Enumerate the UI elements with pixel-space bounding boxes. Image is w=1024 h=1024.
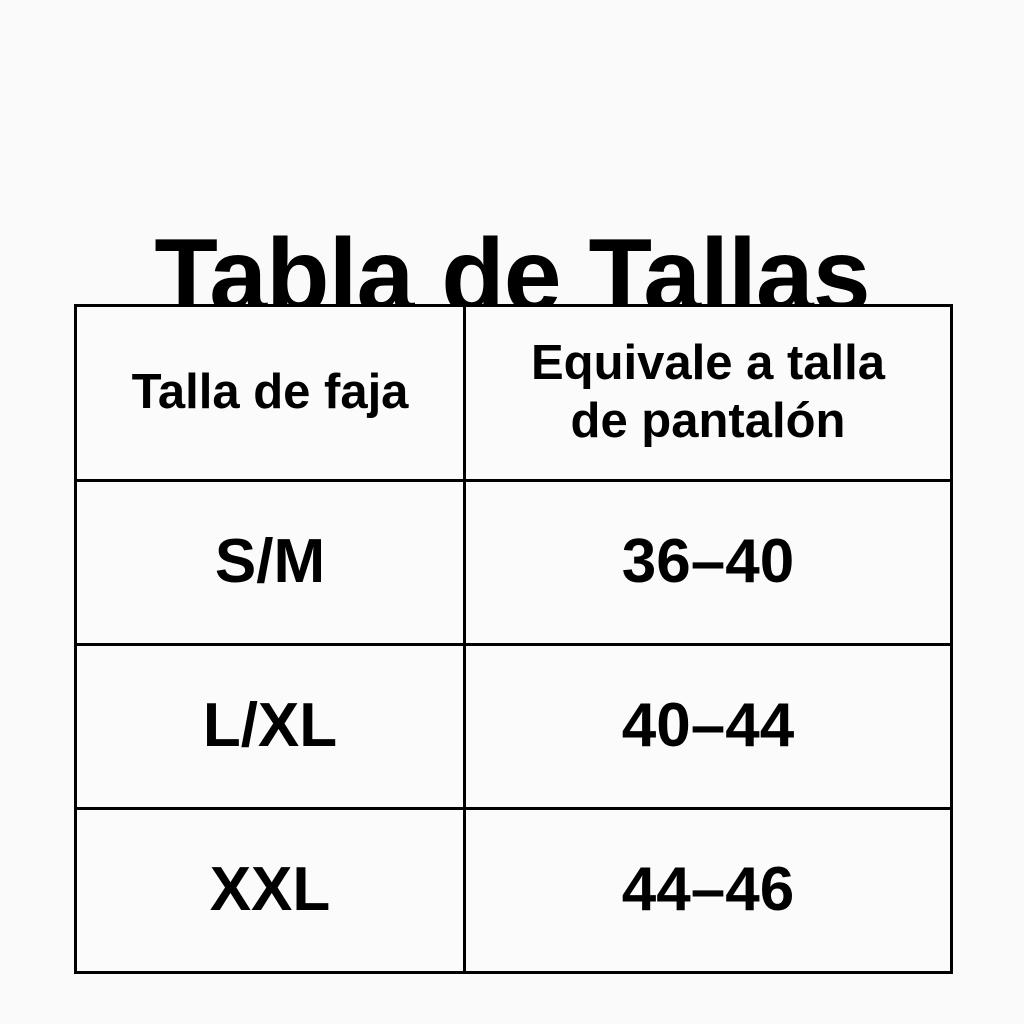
table-header: Talla de faja Equivale a talla de pantal… (76, 306, 952, 481)
cell-talla-faja: XXL (76, 809, 465, 973)
column-header-talla-faja: Talla de faja (76, 306, 465, 481)
cell-talla-pantalon: 44–46 (465, 809, 952, 973)
size-table: Talla de faja Equivale a talla de pantal… (74, 304, 953, 974)
column-header-talla-pantalon: Equivale a talla de pantalón (465, 306, 952, 481)
column-header-talla-faja-label: Talla de faja (87, 364, 453, 422)
table-row: S/M 36–40 (76, 481, 952, 645)
cell-talla-pantalon: 36–40 (465, 481, 952, 645)
table-header-row: Talla de faja Equivale a talla de pantal… (76, 306, 952, 481)
cell-talla-faja: L/XL (76, 645, 465, 809)
size-chart-page: Tabla de Tallas Talla de faja Equivale a… (0, 0, 1024, 1024)
column-header-talla-pantalon-label-line1: Equivale a talla (476, 335, 940, 393)
size-table-container: Talla de faja Equivale a talla de pantal… (74, 304, 950, 930)
cell-talla-pantalon: 40–44 (465, 645, 952, 809)
column-header-talla-pantalon-label-line2: de pantalón (476, 393, 940, 451)
cell-talla-faja: S/M (76, 481, 465, 645)
table-row: XXL 44–46 (76, 809, 952, 973)
table-body: S/M 36–40 L/XL 40–44 XXL 44–46 (76, 481, 952, 973)
table-row: L/XL 40–44 (76, 645, 952, 809)
